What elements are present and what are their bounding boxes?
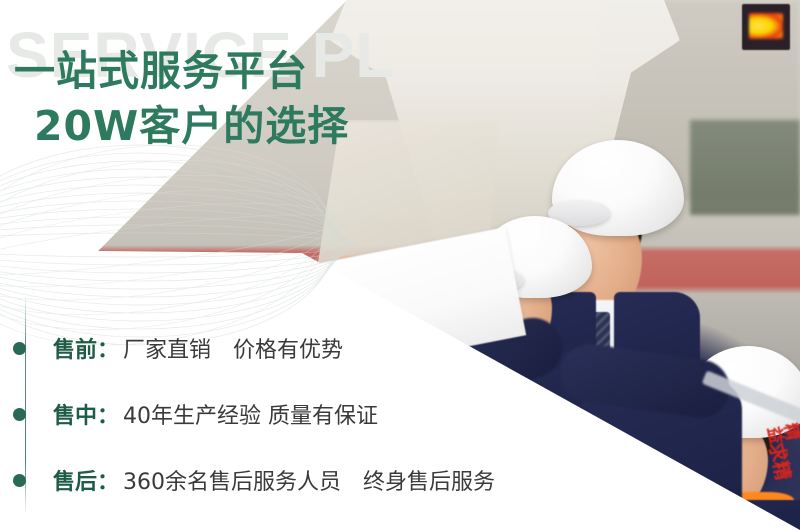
headline-line-2: 20W客户的选择	[34, 92, 349, 152]
feature-text: 厂家直销 价格有优势	[123, 332, 343, 364]
led-sign	[742, 4, 790, 50]
feature-label: 售前：	[53, 332, 119, 364]
machine-housing	[690, 120, 800, 215]
feature-row-pre-sale: 售前： 厂家直销 价格有优势	[19, 332, 343, 364]
feature-text: 40年生产经验 质量有保证	[123, 398, 378, 430]
promo-banner: 精益 求精 SERVICE PL 一站	[0, 0, 800, 530]
feature-text: 360余名售后服务人员 终身售后服务	[123, 464, 495, 496]
feature-label: 售后：	[53, 464, 119, 496]
headline-line-1: 一站式服务平台	[14, 37, 308, 97]
feature-row-during-sale: 售中： 40年生产经验 质量有保证	[19, 398, 378, 430]
bullet-dot-icon	[13, 342, 26, 355]
bullet-dot-icon	[13, 408, 26, 421]
bullet-dot-icon	[13, 474, 26, 487]
feature-label: 售中：	[53, 398, 119, 430]
feature-row-after-sale: 售后： 360余名售后服务人员 终身售后服务	[19, 464, 495, 496]
